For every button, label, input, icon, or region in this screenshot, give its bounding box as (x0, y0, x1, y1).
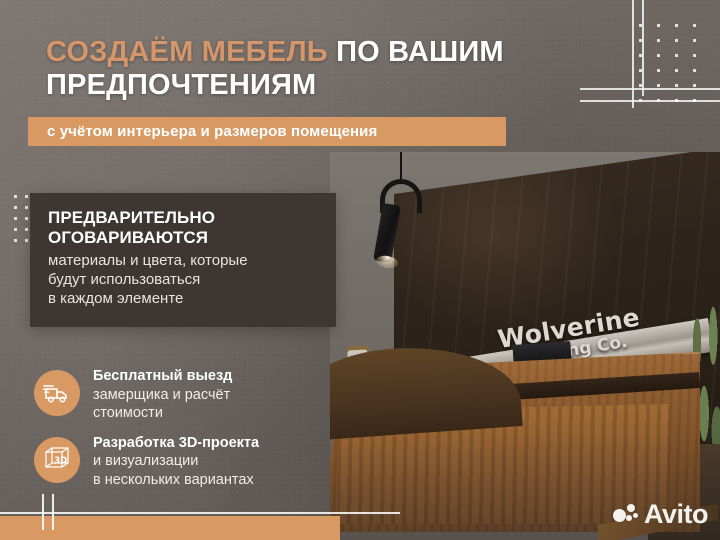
feature-sub-delivery-2: стоимости (93, 404, 232, 422)
feature-list: Бесплатный выезд замерщика и расчёт стои… (34, 368, 334, 501)
feature-sub-3d-1: и визуализации (93, 452, 259, 470)
info-panel-heading: ПРЕДВАРИТЕЛЬНО ОГОВАРИВАЮТСЯ (48, 208, 318, 248)
dot-grid-topright (639, 24, 696, 102)
avito-wordmark: Avito (644, 501, 708, 528)
bottom-tick-right (52, 494, 54, 530)
bottom-white-line (0, 512, 400, 514)
info-panel-heading-line1: ПРЕДВАРИТЕЛЬНО (48, 208, 318, 228)
info-panel-heading-line2: ОГОВАРИВАЮТСЯ (48, 228, 318, 248)
decor-vline-a (632, 0, 634, 108)
feature-title-3d: Разработка 3D-проекта (93, 435, 259, 453)
delivery-truck-icon (34, 370, 80, 416)
feature-item-delivery: Бесплатный выезд замерщика и расчёт стои… (34, 368, 334, 423)
feature-item-3d: 3D Разработка 3D-проекта и визуализации … (34, 435, 334, 490)
bottom-tick-left (42, 494, 44, 530)
info-panel-body-line2: будут использоваться (48, 270, 318, 289)
headline-accent: СОЗДАЁМ МЕБЕЛЬ (46, 36, 328, 68)
reception-photo: Wolverine Packing Co. (330, 152, 720, 540)
feature-sub-delivery-1: замерщика и расчёт (93, 386, 232, 404)
info-panel-body-line3: в каждом элементе (48, 289, 318, 308)
info-panel-body: материалы и цвета, которые будут использ… (48, 251, 318, 309)
feature-text-3d: Разработка 3D-проекта и визуализации в н… (93, 435, 259, 490)
subtitle-bar: с учётом интерьера и размеров помещения (28, 117, 506, 146)
feature-text-delivery: Бесплатный выезд замерщика и расчёт стои… (93, 368, 232, 423)
avito-watermark: Avito (613, 501, 708, 528)
page-title: СОЗДАЁМ МЕБЕЛЬ ПО ВАШИМ ПРЕДПОЧТЕНИЯМ (46, 36, 566, 102)
feature-sub-3d-2: в нескольких вариантах (93, 471, 259, 489)
cube-3d-icon: 3D (34, 437, 80, 483)
bottom-accent-bar (0, 516, 340, 540)
feature-title-delivery: Бесплатный выезд (93, 368, 232, 386)
info-panel: ПРЕДВАРИТЕЛЬНО ОГОВАРИВАЮТСЯ материалы и… (30, 193, 336, 327)
poster-canvas: Wolverine Packing Co. СОЗДАЁМ МЕБЕЛЬ ПО … (0, 0, 720, 540)
avito-logo-icon (613, 503, 639, 527)
subtitle-text: с учётом интерьера и размеров помещения (28, 123, 377, 140)
svg-text:3D: 3D (54, 456, 67, 466)
info-panel-body-line1: материалы и цвета, которые (48, 251, 318, 270)
photo-shade-overlay (330, 152, 720, 540)
